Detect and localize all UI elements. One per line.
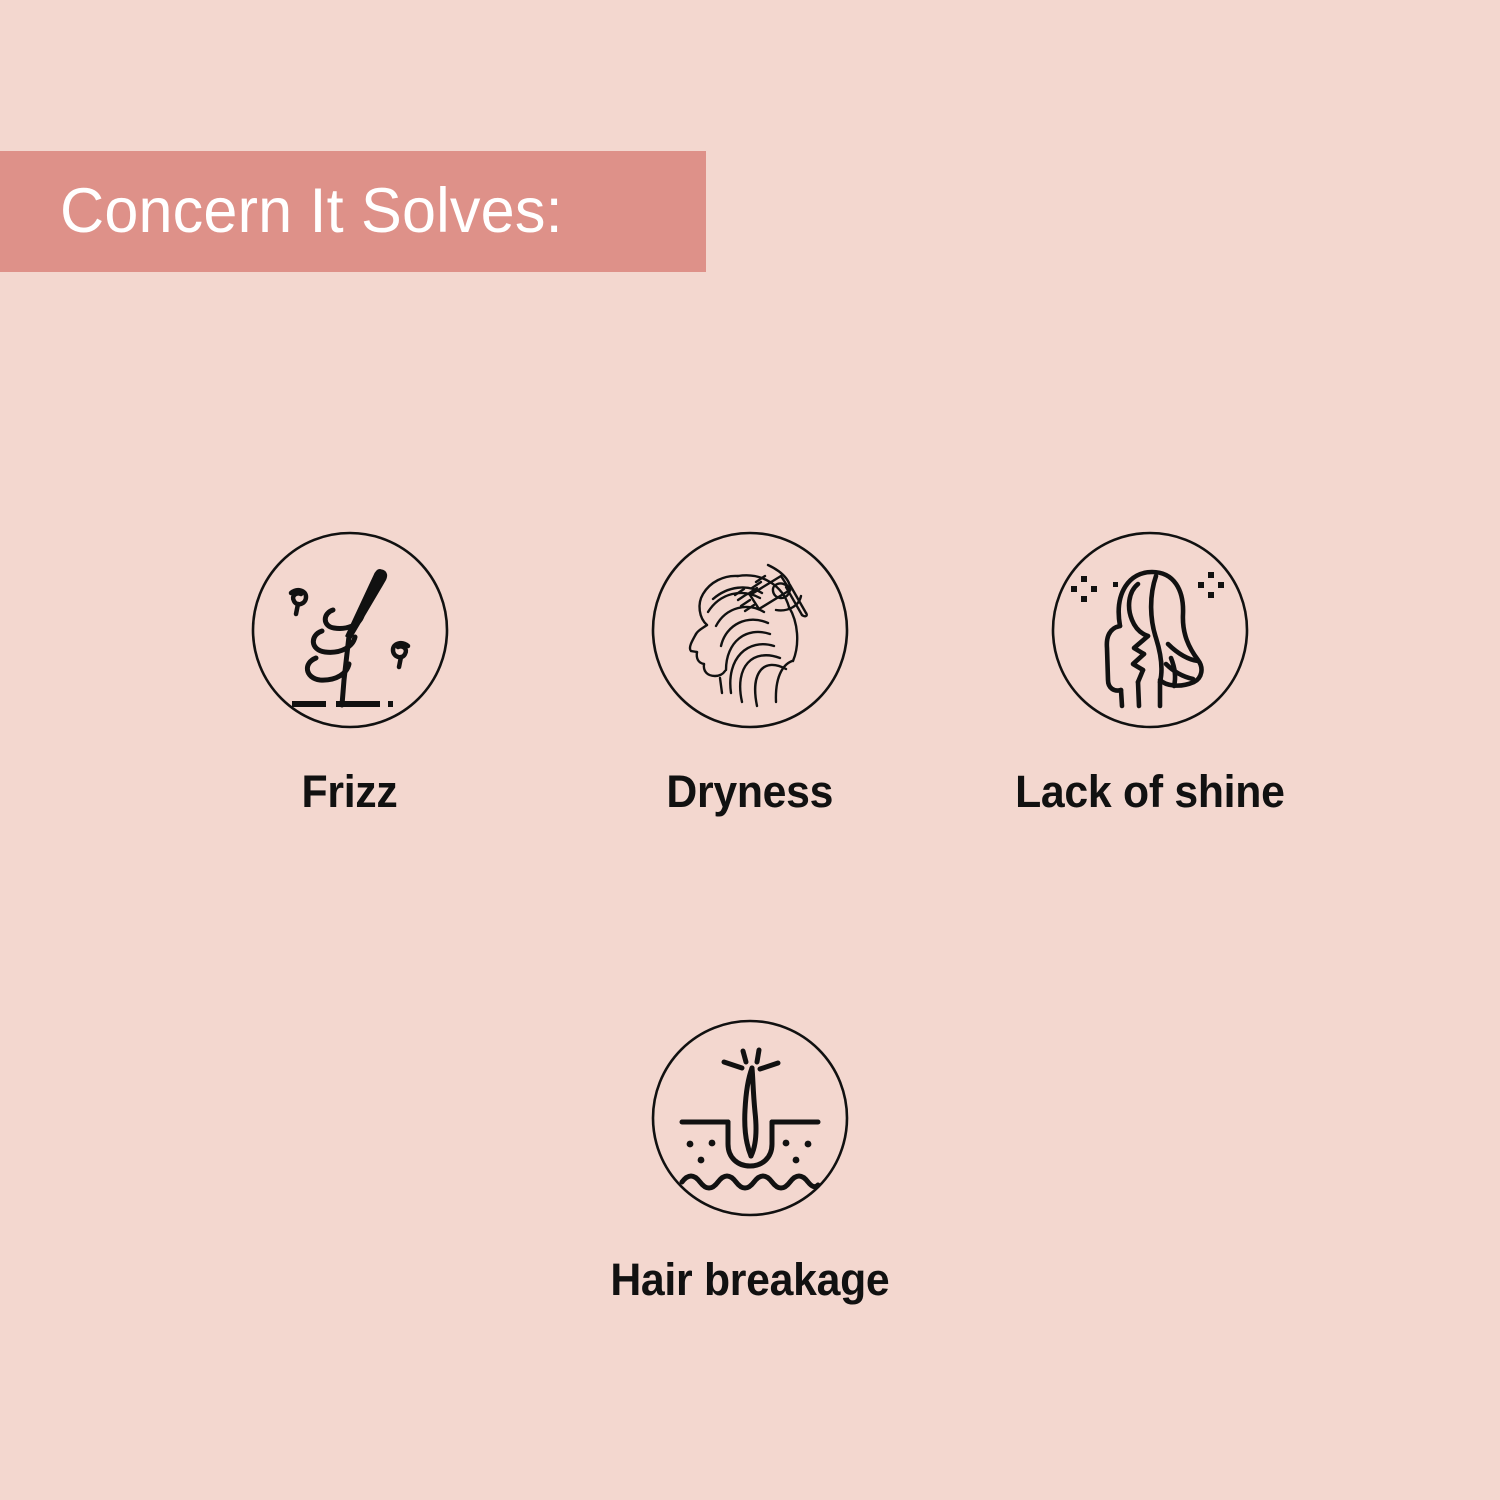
concern-item-frizz[interactable]: Frizz — [150, 530, 550, 818]
concerns-row-1: Frizz — [0, 530, 1500, 818]
woman-shiny-hair-sparkles-icon — [1050, 530, 1250, 730]
page-title: Concern It Solves: — [60, 180, 563, 243]
concern-label-dryness: Dryness — [667, 766, 834, 818]
concerns-grid: Frizz — [0, 530, 1500, 1306]
woman-profile-comb-icon — [650, 530, 850, 730]
frizzy-hair-strand-icon — [250, 530, 450, 730]
concern-it-solves-panel: Concern It Solves: — [0, 0, 1500, 1500]
concern-item-dryness[interactable]: Dryness — [550, 530, 950, 818]
concern-item-lack-of-shine[interactable]: Lack of shine — [950, 530, 1350, 818]
concern-label-lack-of-shine: Lack of shine — [1015, 766, 1285, 818]
concern-label-frizz: Frizz — [302, 766, 398, 818]
hair-follicle-skin-icon — [650, 1018, 850, 1218]
concern-item-hair-breakage[interactable]: Hair breakage — [550, 1018, 950, 1306]
concern-label-hair-breakage: Hair breakage — [610, 1254, 889, 1306]
header-banner: Concern It Solves: — [0, 151, 706, 272]
concerns-row-2: Hair breakage — [0, 1018, 1500, 1306]
